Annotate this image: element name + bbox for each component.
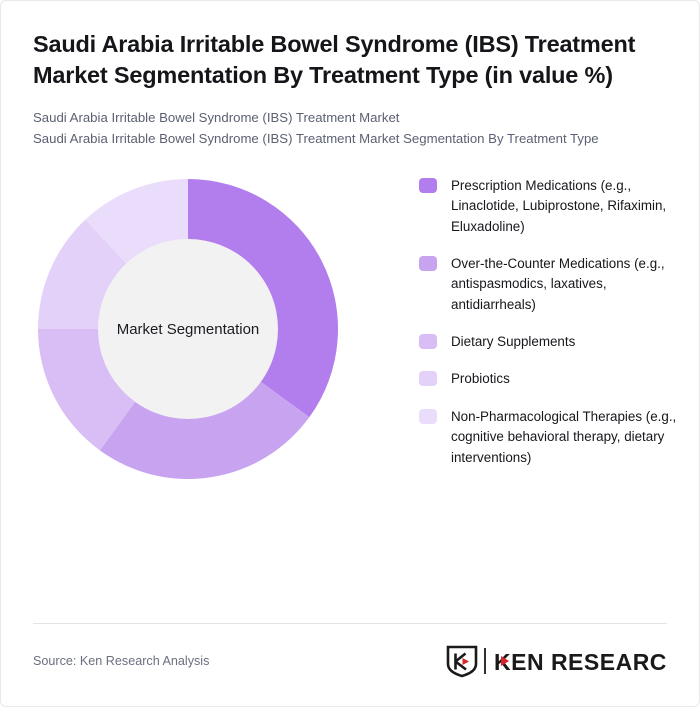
legend-item[interactable]: Probiotics xyxy=(419,369,681,389)
ken-research-logo-icon: KEN RESEARCH xyxy=(445,644,667,678)
legend-item-label: Probiotics xyxy=(451,369,510,389)
legend-swatch-icon xyxy=(419,409,437,424)
legend-swatch-icon xyxy=(419,334,437,349)
donut-svg: Market Segmentation xyxy=(33,174,343,484)
footer-divider xyxy=(33,623,667,624)
card-footer: Source: Ken Research Analysis KEN RESEAR… xyxy=(33,641,667,681)
legend-item[interactable]: Non-Pharmacological Therapies (e.g., cog… xyxy=(419,407,681,468)
logo-wordmark: KEN RESEARCH xyxy=(494,649,667,675)
legend-item-label: Dietary Supplements xyxy=(451,332,575,352)
logo-wordmark-text: KEN RESEARCH xyxy=(494,649,667,675)
legend-item[interactable]: Dietary Supplements xyxy=(419,332,681,352)
breadcrumb-line-2: Saudi Arabia Irritable Bowel Syndrome (I… xyxy=(33,128,667,149)
legend-swatch-icon xyxy=(419,371,437,386)
source-text: Source: Ken Research Analysis xyxy=(33,654,209,668)
legend-item-label: Non-Pharmacological Therapies (e.g., cog… xyxy=(451,407,681,468)
card-content: Saudi Arabia Irritable Bowel Syndrome (I… xyxy=(1,1,699,524)
legend-item-label: Prescription Medications (e.g., Linaclot… xyxy=(451,176,681,237)
legend-swatch-icon xyxy=(419,256,437,271)
legend-item[interactable]: Over-the-Counter Medications (e.g., anti… xyxy=(419,254,681,315)
shield-mark-icon xyxy=(448,647,476,676)
donut-chart: Market Segmentation xyxy=(33,174,343,484)
legend-item-label: Over-the-Counter Medications (e.g., anti… xyxy=(451,254,681,315)
donut-center-label: Market Segmentation xyxy=(117,321,260,338)
breadcrumb: Saudi Arabia Irritable Bowel Syndrome (I… xyxy=(33,107,667,150)
ken-research-logo: KEN RESEARCH xyxy=(445,644,667,678)
chart-legend: Prescription Medications (e.g., Linaclot… xyxy=(419,176,681,468)
chart-card: Saudi Arabia Irritable Bowel Syndrome (I… xyxy=(0,0,700,707)
chart-area: Market Segmentation Prescription Medicat… xyxy=(33,174,667,524)
breadcrumb-line-1: Saudi Arabia Irritable Bowel Syndrome (I… xyxy=(33,107,667,128)
legend-swatch-icon xyxy=(419,178,437,193)
legend-item[interactable]: Prescription Medications (e.g., Linaclot… xyxy=(419,176,681,237)
page-title: Saudi Arabia Irritable Bowel Syndrome (I… xyxy=(33,29,667,91)
